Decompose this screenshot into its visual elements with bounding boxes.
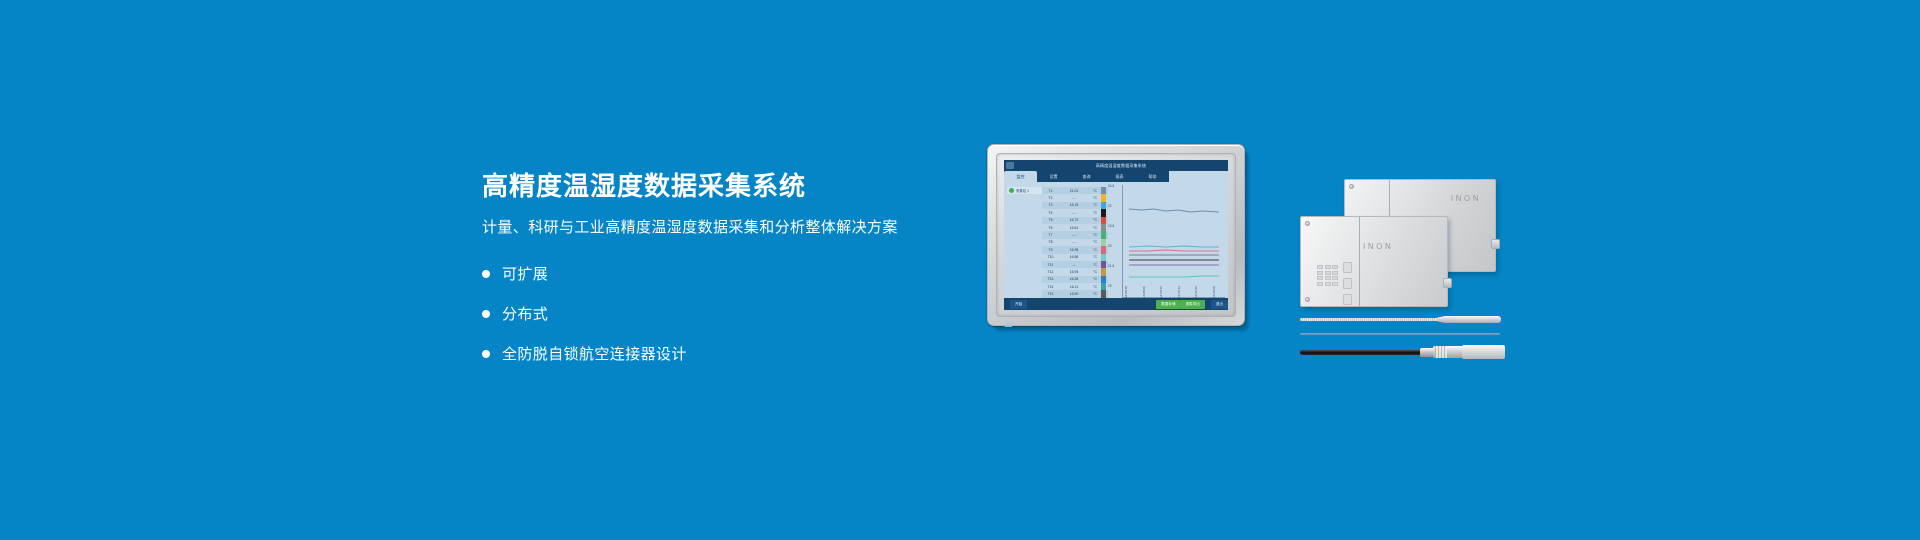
- terminal-block: [1343, 262, 1352, 273]
- terminal-block: [1343, 278, 1352, 289]
- series-color-swatch: [1101, 217, 1106, 224]
- trend-chart: 24.52220.52021.520: [1108, 182, 1228, 298]
- sidebar-item-label: 采集站 1: [1016, 188, 1029, 193]
- platinum-resistance-probe: [1300, 316, 1501, 323]
- table-row[interactable]: T11---°C: [1042, 261, 1108, 268]
- table-row[interactable]: T1216.94°C: [1042, 268, 1108, 275]
- cell-unit: °C: [1089, 263, 1101, 267]
- label-cell: [1317, 276, 1323, 280]
- bullet-dot-icon: [482, 270, 490, 278]
- probe-cable: [1300, 350, 1426, 355]
- probe-sensor-head: [1462, 345, 1505, 359]
- tab-label: 设置: [1050, 174, 1058, 180]
- cell-unit: °C: [1089, 233, 1101, 237]
- series-color-swatch: [1101, 187, 1106, 194]
- tab-label: 报表: [1116, 174, 1124, 180]
- probe-ferrule: [1420, 348, 1434, 357]
- cell-unit: °C: [1089, 211, 1101, 215]
- software-sidebar: 采集站 1: [1004, 182, 1042, 298]
- cell-channel: T14: [1042, 285, 1059, 289]
- probe-cable: [1300, 318, 1440, 321]
- cell-value: 16.90: [1059, 292, 1089, 296]
- table-row[interactable]: T1416.11°C: [1042, 283, 1108, 290]
- spec-label-grid: [1317, 265, 1338, 286]
- cell-unit: °C: [1089, 189, 1101, 193]
- y-tick-label: 24.5: [1108, 184, 1114, 188]
- brand-logo: INON: [1451, 194, 1481, 203]
- cell-value: 16.11: [1059, 285, 1089, 289]
- series-color-swatch: [1101, 254, 1106, 261]
- software-statusbar: 开始 数据存储 报表导出 退出: [1004, 298, 1228, 310]
- product-image-group: 高精度温湿度数据采集系统 监控 设置 查询 报表: [960, 140, 1580, 390]
- label-cell: [1325, 265, 1331, 269]
- feature-label: 分布式: [502, 303, 548, 324]
- cell-channel: T5: [1042, 218, 1059, 222]
- sidebar-item-station[interactable]: 采集站 1: [1007, 187, 1042, 194]
- cell-channel: T3: [1042, 203, 1059, 207]
- x-tick-label: 16:00:10: [1124, 286, 1128, 298]
- app-icon: [1006, 162, 1014, 169]
- software-tabbar: 监控 设置 查询 报表 帮助: [1004, 171, 1228, 182]
- table-row[interactable]: T316.19°C: [1042, 202, 1108, 209]
- cell-channel: T10: [1042, 255, 1059, 259]
- cell-channel: T15: [1042, 292, 1059, 296]
- label-cell: [1332, 265, 1338, 269]
- bullet-dot-icon: [482, 310, 490, 318]
- tab-query[interactable]: 查询: [1070, 171, 1103, 182]
- screw-icon: [1305, 297, 1310, 302]
- tab-label: 帮助: [1149, 174, 1157, 180]
- table-row[interactable]: T7---°C: [1042, 231, 1108, 238]
- table-row[interactable]: T2---°C: [1042, 194, 1108, 201]
- table-row[interactable]: T121.01°C: [1042, 187, 1108, 194]
- table-row[interactable]: T1016.88°C: [1042, 254, 1108, 261]
- hero-banner: 高精度温湿度数据采集系统 计量、科研与工业高精度温湿度数据采集和分析整体解决方案…: [0, 0, 1920, 540]
- label-cell: [1332, 282, 1338, 286]
- series-color-swatch: [1101, 239, 1106, 246]
- aviation-connector-probe: [1300, 345, 1505, 359]
- chart-x-axis: 16:00:1016:05:0016:10:2216:15:4416:21:06…: [1122, 282, 1225, 298]
- data-store-button[interactable]: 数据存储: [1156, 300, 1180, 309]
- table-row[interactable]: T8---°C: [1042, 239, 1108, 246]
- series-color-swatch: [1101, 209, 1106, 216]
- cell-unit: °C: [1089, 255, 1101, 259]
- cell-channel: T12: [1042, 270, 1059, 274]
- feature-list: 可扩展 分布式 全防脱自锁航空连接器设计: [482, 263, 942, 364]
- x-tick-label: 16:10:22: [1159, 286, 1163, 298]
- y-tick-label: 20: [1108, 284, 1112, 288]
- tab-label: 查询: [1083, 174, 1091, 180]
- x-tick-label: 16:21:06: [1194, 286, 1198, 298]
- probe-barrel-threads: [1435, 346, 1447, 358]
- cell-value: 16.19: [1059, 203, 1089, 207]
- exit-button[interactable]: 退出: [1211, 300, 1228, 309]
- connector-port: [1443, 278, 1452, 288]
- brand-logo: INON: [1363, 242, 1393, 251]
- cell-channel: T7: [1042, 233, 1059, 237]
- feature-label: 全防脱自锁航空连接器设计: [502, 343, 687, 364]
- feature-label: 可扩展: [502, 263, 548, 284]
- page-title: 高精度温湿度数据采集系统: [482, 172, 942, 202]
- x-tick-label: 16:15:44: [1177, 286, 1181, 298]
- table-row[interactable]: T1316.28°C: [1042, 276, 1108, 283]
- cell-unit: °C: [1089, 196, 1101, 200]
- table-row[interactable]: T4---°C: [1042, 209, 1108, 216]
- cell-unit: °C: [1089, 285, 1101, 289]
- cell-channel: T1: [1042, 189, 1059, 193]
- probe-cable: [1300, 333, 1500, 336]
- data-logger-box-front: INON: [1300, 216, 1448, 307]
- series-color-swatch: [1101, 268, 1106, 275]
- monitor-foot: [1004, 322, 1014, 327]
- blue-sensor-cable: [1300, 332, 1500, 336]
- cell-value: ---: [1059, 211, 1089, 215]
- cell-value: 21.01: [1059, 189, 1089, 193]
- label-cell: [1325, 282, 1331, 286]
- start-button[interactable]: 开始: [1010, 300, 1027, 309]
- tab-help[interactable]: 帮助: [1136, 171, 1169, 182]
- cell-channel: T4: [1042, 211, 1059, 215]
- chart-y-axis: 24.52220.52021.520: [1108, 184, 1121, 302]
- label-cell: [1325, 276, 1331, 280]
- cell-channel: T13: [1042, 277, 1059, 281]
- cell-value: ---: [1059, 263, 1089, 267]
- hero-subtitle: 计量、科研与工业高精度温湿度数据采集和分析整体解决方案: [482, 218, 942, 238]
- label-cell: [1317, 282, 1323, 286]
- cell-unit: °C: [1089, 203, 1101, 207]
- software-titlebar: 高精度温湿度数据采集系统: [1004, 160, 1228, 171]
- software-body: 采集站 1 T121.01°CT2---°CT316.19°CT4---°CT5…: [1004, 182, 1228, 298]
- cell-unit: °C: [1089, 226, 1101, 230]
- table-row[interactable]: T916.98°C: [1042, 246, 1108, 253]
- cell-unit: °C: [1089, 270, 1101, 274]
- channel-table: T121.01°CT2---°CT316.19°CT4---°CT516.72°…: [1042, 182, 1108, 298]
- label-cell: [1332, 271, 1338, 275]
- cell-channel: T11: [1042, 263, 1059, 267]
- connector-port: [1491, 239, 1500, 249]
- label-cell: [1317, 271, 1323, 275]
- cell-value: 16.98: [1059, 248, 1089, 252]
- terminal-block-column: [1343, 262, 1352, 305]
- list-item: 可扩展: [482, 263, 942, 284]
- tab-monitor[interactable]: 监控: [1004, 171, 1037, 182]
- series-color-swatch: [1101, 246, 1106, 253]
- series-color-swatch: [1101, 290, 1106, 297]
- cell-unit: °C: [1089, 277, 1101, 281]
- y-tick-label: 20: [1108, 244, 1112, 248]
- label-cell: [1332, 276, 1338, 280]
- hero-copy-block: 高精度温湿度数据采集系统 计量、科研与工业高精度温湿度数据采集和分析整体解决方案…: [482, 172, 942, 364]
- y-tick-label: 20.5: [1108, 224, 1114, 228]
- x-tick-label: 16:26:08: [1212, 286, 1216, 298]
- screw-icon: [1349, 184, 1354, 189]
- series-color-swatch: [1101, 276, 1106, 283]
- series-color-swatch: [1101, 231, 1106, 238]
- cell-unit: °C: [1089, 240, 1101, 244]
- monitor-screen: 高精度温湿度数据采集系统 监控 设置 查询 报表: [1004, 160, 1228, 310]
- cell-unit: °C: [1089, 218, 1101, 222]
- status-online-icon: [1009, 188, 1014, 193]
- cell-channel: T9: [1042, 248, 1059, 252]
- cell-channel: T8: [1042, 240, 1059, 244]
- terminal-block: [1343, 294, 1352, 305]
- cell-channel: T2: [1042, 196, 1059, 200]
- series-color-swatch: [1101, 261, 1106, 268]
- series-color-swatch: [1101, 194, 1106, 201]
- list-item: 全防脱自锁航空连接器设计: [482, 343, 942, 364]
- tab-settings[interactable]: 设置: [1037, 171, 1070, 182]
- cell-value: 16.61: [1059, 226, 1089, 230]
- report-export-button[interactable]: 报表导出: [1180, 300, 1204, 309]
- table-row[interactable]: T516.72°C: [1042, 217, 1108, 224]
- software-window-title: 高精度温湿度数据采集系统: [1014, 160, 1228, 171]
- table-row[interactable]: T1516.90°C: [1042, 290, 1108, 297]
- x-tick-label: 16:05:00: [1142, 286, 1146, 298]
- cell-value: 16.28: [1059, 277, 1089, 281]
- cell-value: ---: [1059, 240, 1089, 244]
- tab-report[interactable]: 报表: [1103, 171, 1136, 182]
- label-cell: [1317, 265, 1323, 269]
- chart-series-svg: [1123, 185, 1225, 297]
- screw-icon: [1305, 221, 1310, 226]
- list-item: 分布式: [482, 303, 942, 324]
- series-color-swatch: [1101, 202, 1106, 209]
- y-tick-label: 21.5: [1108, 264, 1114, 268]
- table-row[interactable]: T616.61°C: [1042, 224, 1108, 231]
- cell-value: 16.72: [1059, 218, 1089, 222]
- series-color-swatch: [1101, 283, 1106, 290]
- cell-value: ---: [1059, 196, 1089, 200]
- cell-unit: °C: [1089, 292, 1101, 296]
- cell-value: ---: [1059, 233, 1089, 237]
- y-tick-label: 22: [1108, 204, 1112, 208]
- cell-channel: T6: [1042, 226, 1059, 230]
- cell-value: 16.94: [1059, 270, 1089, 274]
- probe-tip: [1436, 316, 1501, 323]
- enclosure-seam: [1359, 217, 1360, 306]
- panel-pc-image: 高精度温湿度数据采集系统 监控 设置 查询 报表: [987, 144, 1249, 330]
- series-color-swatch: [1101, 224, 1106, 231]
- bullet-dot-icon: [482, 350, 490, 358]
- tabbar-filler: [1169, 171, 1228, 182]
- tab-label: 监控: [1017, 174, 1025, 180]
- cell-unit: °C: [1089, 248, 1101, 252]
- label-cell: [1325, 271, 1331, 275]
- cell-value: 16.88: [1059, 255, 1089, 259]
